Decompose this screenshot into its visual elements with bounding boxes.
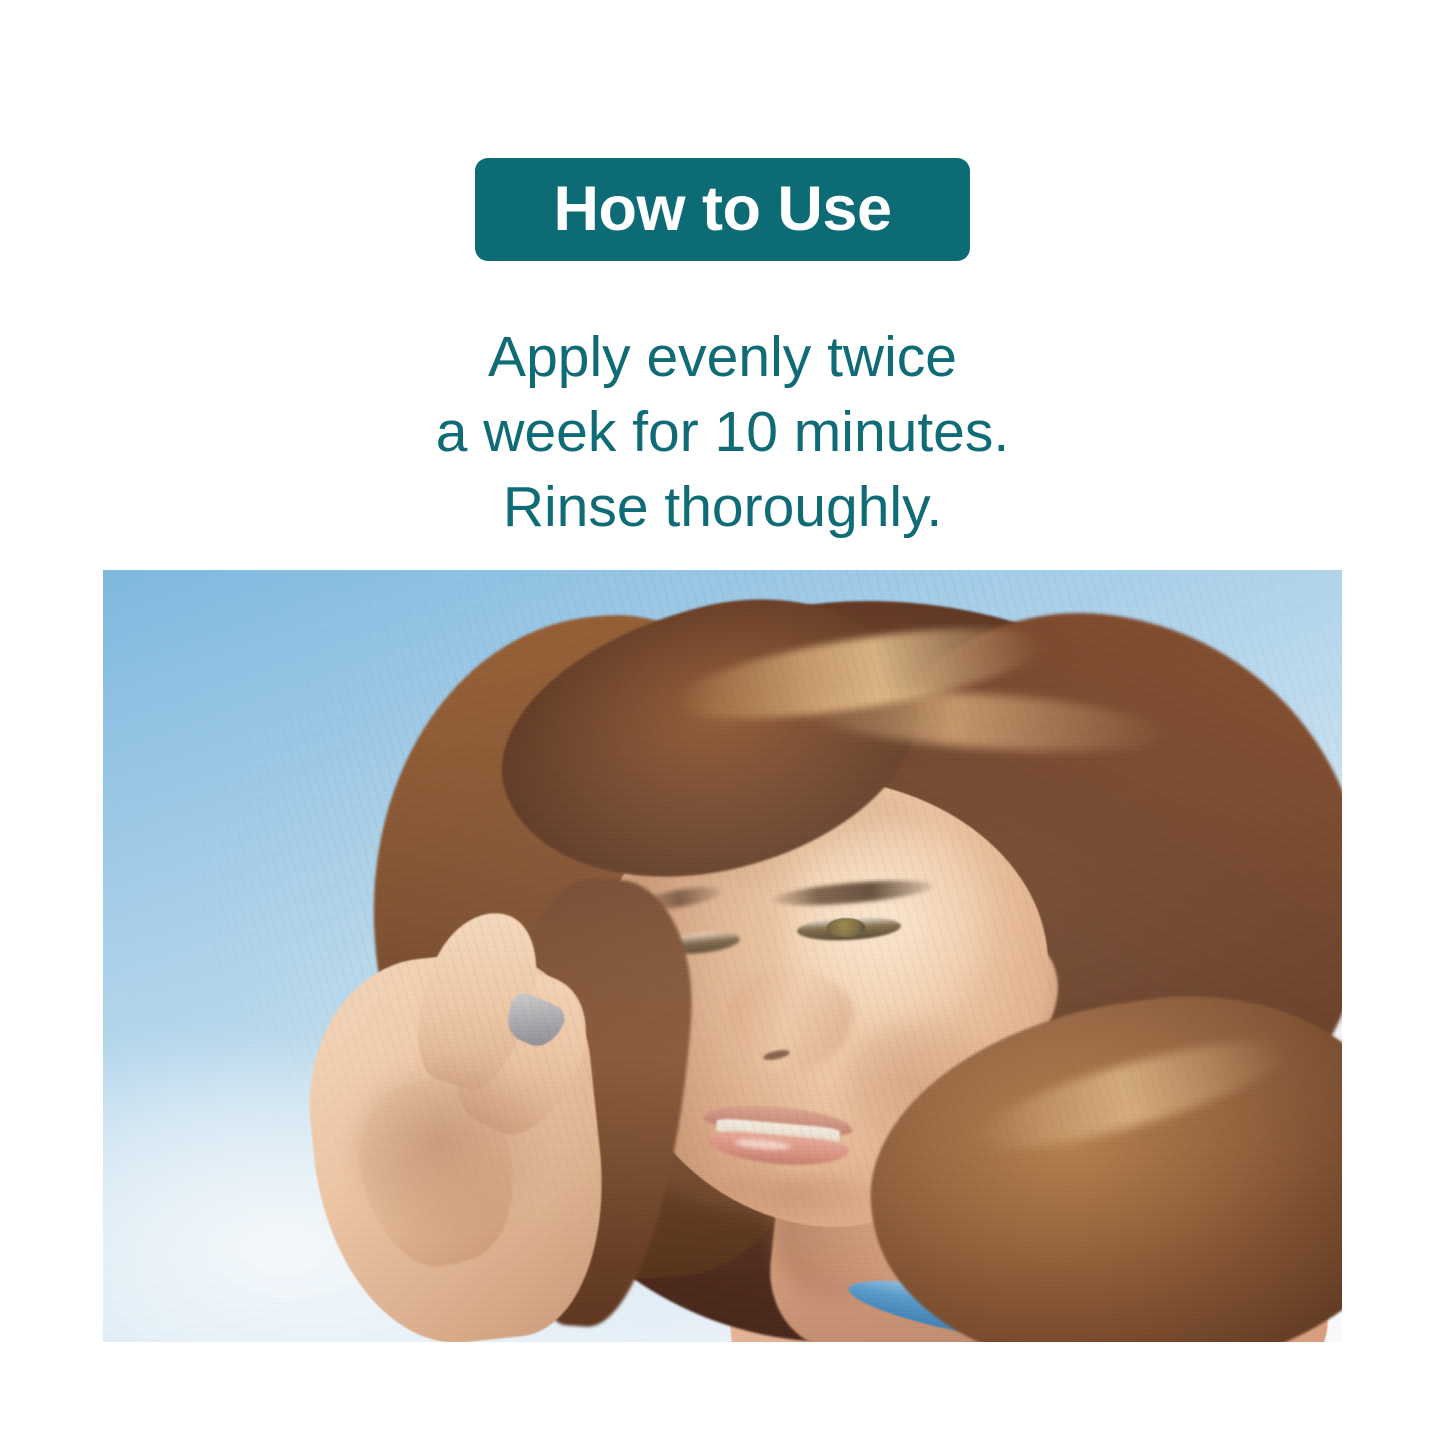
usage-instructions: Apply evenly twice a week for 10 minutes… [0,320,1445,545]
instruction-line-3: Rinse thoroughly. [0,470,1445,545]
instruction-line-1: Apply evenly twice [0,320,1445,395]
how-to-use-badge-label: How to Use [553,178,891,241]
hair-wisps [103,570,1342,1342]
how-to-use-badge: How to Use [475,158,970,261]
how-to-use-section: How to Use Apply evenly twice a week for… [0,0,1445,1445]
instruction-line-2: a week for 10 minutes. [0,395,1445,470]
model-subject [103,570,1342,1342]
model-photo [103,570,1342,1342]
